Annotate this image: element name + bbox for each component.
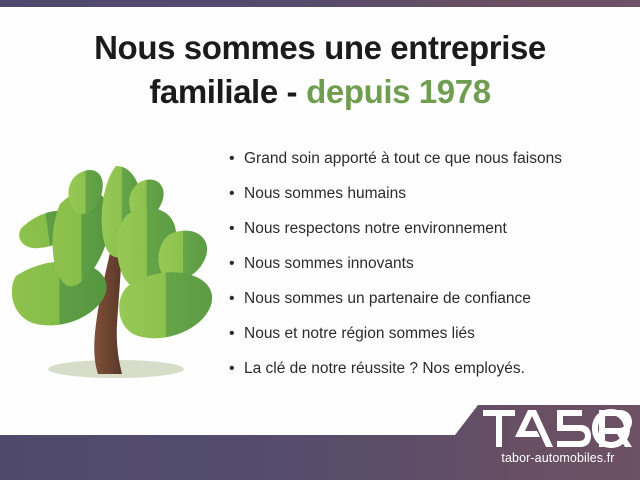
bullet-icon: • bbox=[229, 218, 244, 240]
list-item-label: Nous respectons notre environnement bbox=[244, 218, 507, 240]
list-item-label: La clé de notre réussite ? Nos employés. bbox=[244, 358, 525, 380]
top-accent-strip bbox=[0, 0, 640, 7]
logo-tagline: tabor-automobiles.fr bbox=[483, 451, 633, 465]
list-item: • Grand soin apporté à tout ce que nous … bbox=[229, 148, 629, 183]
tree-illustration bbox=[12, 152, 218, 388]
list-item: • La clé de notre réussite ? Nos employé… bbox=[229, 358, 629, 393]
headline-line-1: Nous sommes une entreprise bbox=[94, 29, 546, 66]
list-item-label: Nous sommes un partenaire de confiance bbox=[244, 288, 531, 310]
list-item: • Nous sommes humains bbox=[229, 183, 629, 218]
bullet-icon: • bbox=[229, 183, 244, 205]
slide-canvas: Nous sommes une entreprise familiale -de… bbox=[0, 0, 640, 480]
bullet-icon: • bbox=[229, 323, 244, 345]
bullet-icon: • bbox=[229, 148, 244, 170]
benefits-list: • Grand soin apporté à tout ce que nous … bbox=[229, 148, 629, 393]
headline-line-2-prefix: familiale - bbox=[149, 73, 297, 110]
tree-leaves bbox=[12, 191, 110, 326]
tabor-wordmark-icon bbox=[483, 409, 633, 449]
list-item: • Nous et notre région sommes liés bbox=[229, 323, 629, 358]
list-item-label: Nous sommes humains bbox=[244, 183, 406, 205]
list-item: • Nous sommes innovants bbox=[229, 253, 629, 288]
bullet-icon: • bbox=[229, 288, 244, 310]
bullet-icon: • bbox=[229, 358, 244, 380]
page-title: Nous sommes une entreprise familiale -de… bbox=[0, 26, 640, 114]
list-item: • Nous respectons notre environnement bbox=[229, 218, 629, 253]
brand-logo[interactable]: tabor-automobiles.fr bbox=[483, 409, 633, 473]
list-item-label: Nous sommes innovants bbox=[244, 253, 414, 275]
list-item-label: Nous et notre région sommes liés bbox=[244, 323, 475, 345]
list-item: • Nous sommes un partenaire de confiance bbox=[229, 288, 629, 323]
list-item-label: Grand soin apporté à tout ce que nous fa… bbox=[244, 148, 562, 170]
headline-accent-since-1978: depuis 1978 bbox=[306, 73, 491, 110]
bullet-icon: • bbox=[229, 253, 244, 275]
